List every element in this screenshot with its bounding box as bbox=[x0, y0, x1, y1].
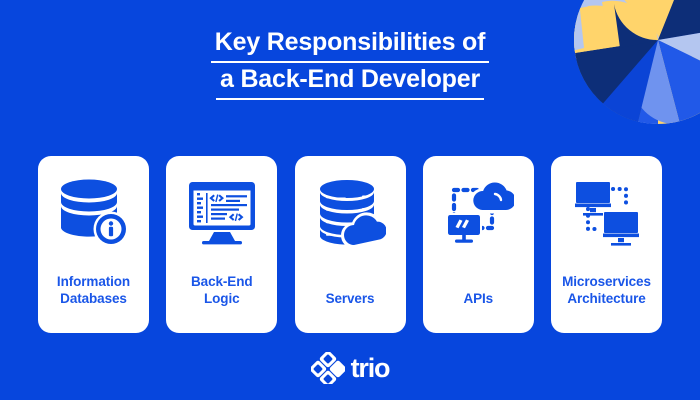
card-back-end-logic[interactable]: Back-End Logic bbox=[166, 156, 277, 333]
card-label: Back-End Logic bbox=[187, 273, 256, 307]
card-apis[interactable]: APIs bbox=[423, 156, 534, 333]
title-line-2: a Back-End Developer bbox=[216, 63, 484, 100]
infographic-canvas: Key Responsibilities of a Back-End Devel… bbox=[0, 0, 700, 400]
brand-logo[interactable]: trio bbox=[0, 352, 700, 384]
responsibility-card-row: Information Databases bbox=[38, 156, 662, 333]
page-title: Key Responsibilities of a Back-End Devel… bbox=[0, 26, 700, 100]
card-information-databases[interactable]: Information Databases bbox=[38, 156, 149, 333]
card-label: Microservices Architecture bbox=[558, 273, 655, 307]
server-cloud-icon bbox=[312, 174, 388, 252]
card-microservices-architecture[interactable]: Microservices Architecture bbox=[551, 156, 662, 333]
card-label: Servers bbox=[322, 290, 379, 307]
card-servers[interactable]: Servers bbox=[295, 156, 406, 333]
brand-wordmark: trio bbox=[351, 355, 390, 382]
cloud-monitor-api-icon bbox=[440, 174, 516, 252]
trio-diamond-logo-icon bbox=[311, 352, 345, 384]
card-label: Information Databases bbox=[53, 273, 134, 307]
connected-monitors-icon bbox=[569, 174, 645, 252]
database-info-icon bbox=[56, 174, 132, 252]
card-label: APIs bbox=[459, 290, 497, 307]
title-line-1: Key Responsibilities of bbox=[211, 26, 489, 63]
monitor-code-icon bbox=[184, 174, 260, 252]
